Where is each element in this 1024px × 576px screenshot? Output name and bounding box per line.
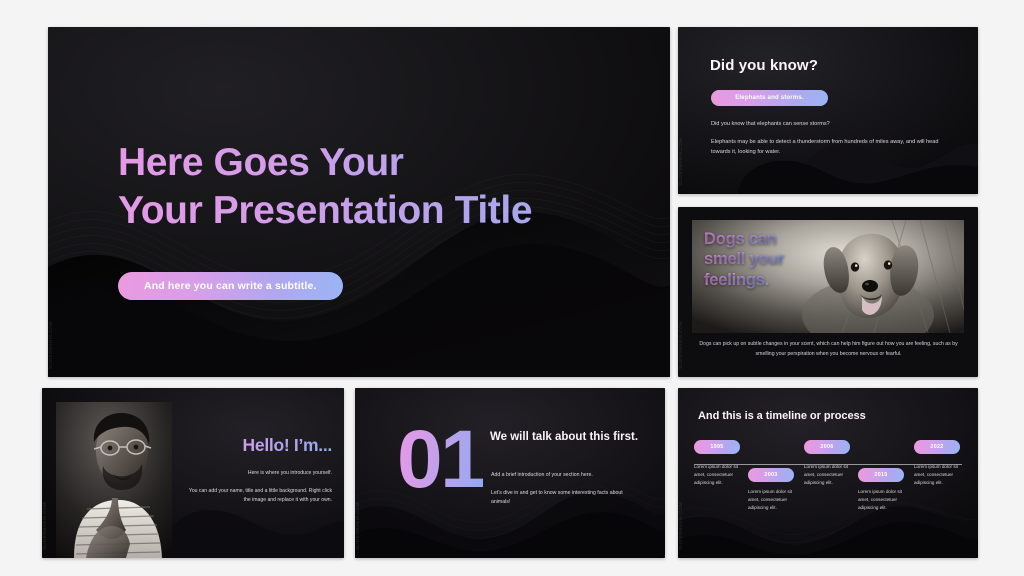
slide-dogs-smell[interactable]: Dogs can smell your feelings. Dogs can p…	[678, 207, 978, 377]
slide-did-you-know[interactable]: Did you know? Elephants and storms. Did …	[678, 27, 978, 194]
dogs-caption: Dogs can pick up on subtle changes in yo…	[696, 340, 961, 359]
body-paragraph: You can add your name, title and a littl…	[182, 487, 332, 506]
slide-body: Did you know that elephants can sense st…	[711, 120, 946, 157]
slide-hello-intro[interactable]: Hello! I’m... Here is where you introduc…	[42, 388, 344, 558]
subtitle-pill[interactable]: And here you can write a subtitle.	[118, 272, 343, 300]
hello-title: Hello! I’m...	[192, 435, 332, 456]
topic-pill[interactable]: Elephants and storms.	[711, 90, 828, 106]
section-body: Add a brief introduction of your section…	[491, 471, 641, 508]
slide-heading: Did you know?	[710, 57, 818, 74]
timeline-year-pill[interactable]: 2006	[804, 440, 850, 454]
timeline-heading: And this is a timeline or process	[698, 410, 866, 422]
slide-watermark: SLIDESMANIA.COM	[355, 502, 360, 550]
timeline-event[interactable]: 2015 Lorem ipsum dolor sit amet, consect…	[858, 468, 906, 512]
slide-watermark: SLIDESMANIA.COM	[678, 321, 683, 369]
slide-title-cover[interactable]: Here Goes Your Your Presentation Title A…	[48, 27, 670, 377]
timeline-event-text: Lorem ipsum dolor sit amet, consectetuer…	[858, 488, 902, 512]
timeline-event-text: Lorem ipsum dolor sit amet, consectetuer…	[804, 463, 848, 487]
dogs-title-line-2: smell your	[704, 249, 785, 269]
section-number: 01	[397, 421, 483, 499]
timeline-event[interactable]: 2003 Lorem ipsum dolor sit amet, consect…	[748, 468, 796, 512]
timeline-event[interactable]: 2022 Lorem ipsum dolor sit amet, consect…	[914, 440, 962, 487]
slide-watermark: SLIDESMANIA.COM	[42, 502, 47, 550]
hello-body: Here is where you introduce yourself. Yo…	[182, 469, 332, 506]
title-line-2: Your Presentation Title	[118, 187, 658, 235]
body-paragraph: Add a brief introduction of your section…	[491, 471, 641, 481]
dogs-title-line-1: Dogs can	[704, 229, 785, 249]
timeline-event-text: Lorem ipsum dolor sit amet, consectetuer…	[748, 488, 792, 512]
dogs-title: Dogs can smell your feelings.	[704, 229, 785, 290]
brand-rail: SLIDESMANIA	[0, 0, 42, 576]
timeline-year-pill[interactable]: 1995	[694, 440, 740, 454]
timeline-year-pill[interactable]: 2003	[748, 468, 794, 482]
wave-background-decor	[678, 27, 978, 194]
slide-timeline[interactable]: And this is a timeline or process 1995 L…	[678, 388, 978, 558]
title-text-block: Here Goes Your Your Presentation Title	[118, 139, 658, 234]
title-line-1: Here Goes Your	[118, 139, 658, 187]
body-paragraph: Elephants may be able to detect a thunde…	[711, 138, 946, 158]
timeline-event[interactable]: 2006 Lorem ipsum dolor sit amet, consect…	[804, 440, 852, 487]
presentation-template-preview: SLIDESMANIA	[0, 0, 1024, 576]
portrait-photo-image	[56, 402, 172, 558]
timeline-event[interactable]: 1995 Lorem ipsum dolor sit amet, consect…	[694, 440, 742, 487]
timeline-event-text: Lorem ipsum dolor sit amet, consectetuer…	[694, 463, 738, 487]
body-paragraph: Did you know that elephants can sense st…	[711, 120, 946, 130]
portrait-photo	[56, 402, 172, 558]
slide-watermark: SLIDESMANIA.COM	[48, 321, 53, 369]
slide-watermark: SLIDESMANIA.COM	[678, 138, 683, 186]
timeline-year-pill[interactable]: 2022	[914, 440, 960, 454]
timeline-year-pill[interactable]: 2015	[858, 468, 904, 482]
body-paragraph: Let’s dive in and get to know some inter…	[491, 489, 641, 508]
dogs-title-line-3: feelings.	[704, 270, 785, 290]
slide-watermark: SLIDESMANIA.COM	[678, 502, 683, 550]
body-paragraph: Here is where you introduce yourself.	[182, 469, 332, 479]
slide-section-divider[interactable]: 01 We will talk about this first. Add a …	[355, 388, 665, 558]
timeline-event-text: Lorem ipsum dolor sit amet, consectetuer…	[914, 463, 958, 487]
section-heading: We will talk about this first.	[490, 430, 640, 445]
